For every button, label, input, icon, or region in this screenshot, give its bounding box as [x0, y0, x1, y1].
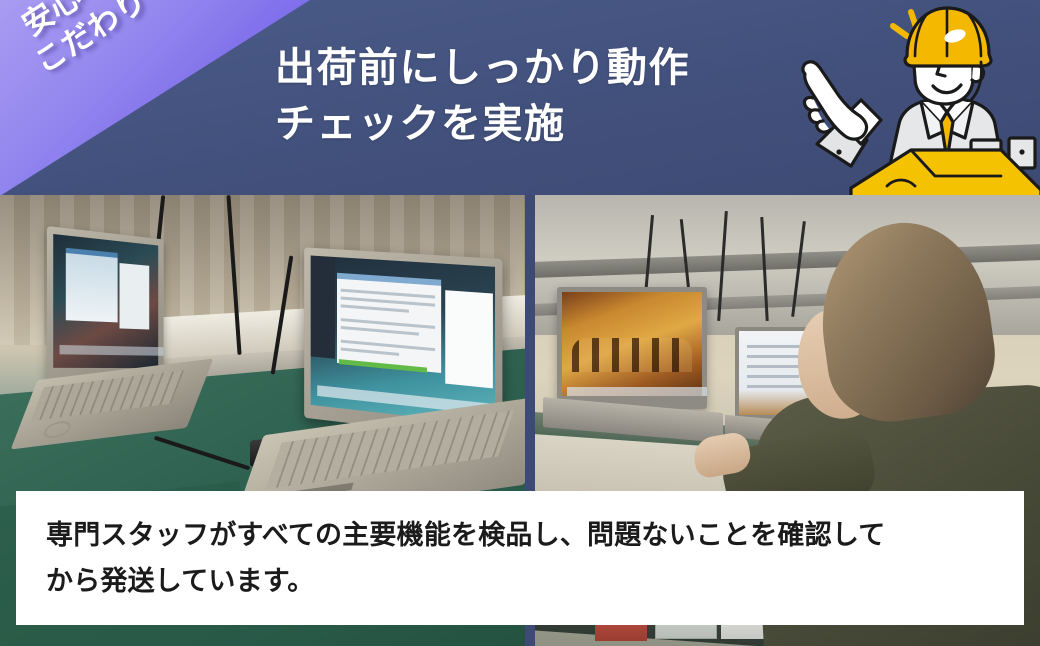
page-title-line-1: 出荷前にしっかり動作 [275, 40, 690, 96]
caption-panel: 専門スタッフがすべての主要機能を検品し、問題ないことを確認して から発送していま… [16, 491, 1024, 625]
promo-banner: 安心への こだわり 出荷前にしっかり動作 チェックを実施 [0, 0, 1040, 646]
laptop-wallpaper-display [557, 287, 717, 447]
page-title: 出荷前にしっかり動作 チェックを実施 [275, 40, 690, 152]
laptop-left [48, 233, 230, 433]
caption-line-1: 専門スタッフがすべての主要機能を検品し、問題ないことを確認して [46, 513, 994, 559]
laptop-right [300, 253, 525, 493]
header-band: 安心への こだわり 出荷前にしっかり動作 チェックを実施 [0, 0, 1040, 195]
inspection-worker-illustration [795, 0, 1040, 195]
caption-line-2: から発送しています。 [46, 559, 994, 605]
ribbon-text: 安心への こだわり [4, 0, 255, 84]
page-title-line-2: チェックを実施 [275, 96, 690, 152]
corner-ribbon: 安心への こだわり [0, 0, 310, 195]
